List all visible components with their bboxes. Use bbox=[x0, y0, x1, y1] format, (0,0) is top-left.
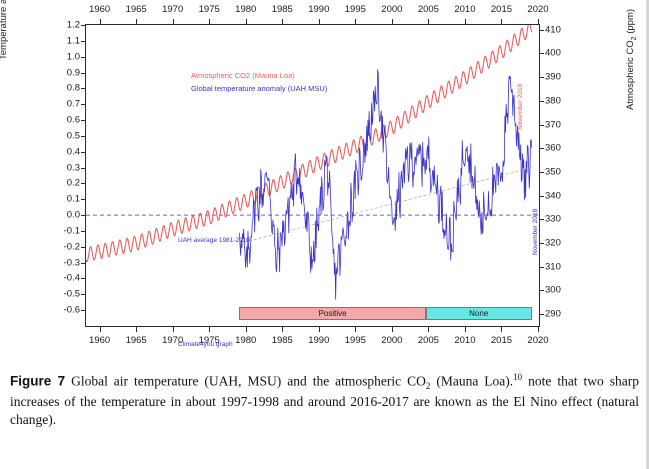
y-axis-right-label-sub: 2 bbox=[631, 36, 638, 40]
x-tick-top: 2010 bbox=[454, 4, 475, 15]
y-tickmark-right bbox=[539, 101, 544, 102]
y-tick-left: -0.4 bbox=[64, 273, 80, 284]
legend-temperature: Global temperature anomaly (UAH MSU) bbox=[191, 84, 327, 93]
y-tick-left: 0.9 bbox=[67, 67, 80, 78]
x-axis-bottom: 1960196519701975198019851990199520002005… bbox=[85, 331, 540, 347]
annotation-november-2018-blue: November 2018 bbox=[532, 209, 539, 255]
figure-caption-ref: 10 bbox=[513, 372, 522, 382]
x-tick-bottom: 2000 bbox=[381, 335, 402, 346]
y-tickmark-right bbox=[539, 196, 544, 197]
y-tick-left: 0.5 bbox=[67, 130, 80, 141]
x-tick-bottom: 1980 bbox=[235, 335, 256, 346]
y-tick-right: 350 bbox=[545, 166, 561, 177]
y-tickmark-left bbox=[81, 215, 86, 216]
legend-co2: Atmospheric CO2 (Mauna Loa) bbox=[191, 71, 295, 80]
y-tick-left: -0.6 bbox=[64, 305, 80, 316]
y-tickmark-left bbox=[81, 136, 86, 137]
y-tick-left: 0.2 bbox=[67, 178, 80, 189]
y-tickmark-right bbox=[539, 77, 544, 78]
y-tick-right: 370 bbox=[545, 119, 561, 130]
figure-caption-part2: (Mauna Loa). bbox=[430, 374, 513, 389]
reference-line-label: UAH average 1981-2010 bbox=[178, 237, 250, 244]
y-tick-right: 410 bbox=[545, 24, 561, 35]
y-tickmark-left bbox=[81, 120, 86, 121]
x-tickmark-bottom bbox=[100, 327, 101, 332]
x-tickmark-bottom bbox=[355, 327, 356, 332]
x-tick-bottom: 1995 bbox=[345, 335, 366, 346]
y-tickmark-right bbox=[539, 148, 544, 149]
x-tick-bottom: 1965 bbox=[126, 335, 147, 346]
x-tick-top: 1985 bbox=[272, 4, 293, 15]
y-tickmark-right bbox=[539, 125, 544, 126]
y-tick-right: 330 bbox=[545, 214, 561, 225]
x-tick-bottom: 2005 bbox=[418, 335, 439, 346]
y-tickmark-right bbox=[539, 290, 544, 291]
x-tick-top: 1990 bbox=[308, 4, 329, 15]
annotation-november-2018-red: November 2018 bbox=[517, 84, 524, 130]
y-tick-left: 1.2 bbox=[67, 20, 80, 31]
chart-area: 1960196519701975198019851990199520002005… bbox=[0, 0, 649, 362]
y-tickmark-left bbox=[81, 231, 86, 232]
y-tickmark-left bbox=[81, 263, 86, 264]
y-tick-right: 360 bbox=[545, 143, 561, 154]
x-tick-bottom: 2020 bbox=[527, 335, 548, 346]
watermark-label: Climate4you graph bbox=[178, 341, 233, 348]
x-tick-top: 2005 bbox=[418, 4, 439, 15]
y-tick-left: -0.3 bbox=[64, 257, 80, 268]
y-tickmark-left bbox=[81, 41, 86, 42]
x-tick-top: 2015 bbox=[491, 4, 512, 15]
x-tickmark-bottom bbox=[538, 327, 539, 332]
x-tick-bottom: 2015 bbox=[491, 335, 512, 346]
y-tick-left: 0.7 bbox=[67, 99, 80, 110]
y-axis-right-label-unit: (ppm) bbox=[625, 9, 636, 36]
y-axis-right-label-text: Atmospheric CO bbox=[625, 40, 636, 110]
y-tick-left: 0.3 bbox=[67, 162, 80, 173]
y-tickmark-left bbox=[81, 199, 86, 200]
x-tick-top: 1965 bbox=[126, 4, 147, 15]
y-tickmark-right bbox=[539, 314, 544, 315]
enso-bar-positive: Positive bbox=[239, 307, 425, 320]
y-tickmark-right bbox=[539, 30, 544, 31]
y-tick-left: -0.5 bbox=[64, 289, 80, 300]
y-tick-right: 290 bbox=[545, 309, 561, 320]
y-tickmark-left bbox=[81, 73, 86, 74]
y-tickmark-right bbox=[539, 267, 544, 268]
x-tickmark-bottom bbox=[392, 327, 393, 332]
x-axis-top: 1960196519701975198019851990199520002005… bbox=[85, 4, 540, 20]
y-tick-right: 310 bbox=[545, 261, 561, 272]
y-tickmark-left bbox=[81, 25, 86, 26]
y-tickmark-left bbox=[81, 168, 86, 169]
x-tickmark-bottom bbox=[282, 327, 283, 332]
y-tick-left: 0.8 bbox=[67, 83, 80, 94]
y-tickmark-left bbox=[81, 183, 86, 184]
x-tick-top: 1995 bbox=[345, 4, 366, 15]
y-tick-right: 320 bbox=[545, 238, 561, 249]
y-tickmark-left bbox=[81, 88, 86, 89]
x-tickmark-bottom bbox=[501, 327, 502, 332]
x-tick-bottom: 1990 bbox=[308, 335, 329, 346]
figure-caption-label: Figure 7 bbox=[10, 374, 65, 389]
x-tickmark-bottom bbox=[246, 327, 247, 332]
x-tick-bottom: 1985 bbox=[272, 335, 293, 346]
y-tick-right: 390 bbox=[545, 72, 561, 83]
y-tickmark-right bbox=[539, 243, 544, 244]
figure-container: 1960196519701975198019851990199520002005… bbox=[0, 0, 649, 469]
figure-caption: Figure 7 Global air temperature (UAH, MS… bbox=[10, 372, 639, 429]
y-tick-left: 1.0 bbox=[67, 51, 80, 62]
y-tickmark-left bbox=[81, 294, 86, 295]
x-tickmark-bottom bbox=[428, 327, 429, 332]
x-tick-top: 2000 bbox=[381, 4, 402, 15]
y-tickmark-right bbox=[539, 172, 544, 173]
y-axis-left-label: Temperature anomaly (deg. C) bbox=[0, 0, 9, 60]
y-tick-right: 340 bbox=[545, 190, 561, 201]
y-tick-right: 400 bbox=[545, 48, 561, 59]
y-axis-right-label: Atmospheric CO2 (ppm) bbox=[625, 0, 638, 110]
x-tick-top: 1980 bbox=[235, 4, 256, 15]
x-tickmark-bottom bbox=[173, 327, 174, 332]
x-tick-top: 2020 bbox=[527, 4, 548, 15]
x-tick-top: 1975 bbox=[199, 4, 220, 15]
y-tick-left: 0.6 bbox=[67, 115, 80, 126]
y-tickmark-left bbox=[81, 152, 86, 153]
y-tick-left: 0.1 bbox=[67, 194, 80, 205]
enso-bar-none: None bbox=[426, 307, 532, 320]
y-tick-left: 1.1 bbox=[67, 35, 80, 46]
x-tickmark-bottom bbox=[465, 327, 466, 332]
y-tick-right: 380 bbox=[545, 95, 561, 106]
y-tickmark-right bbox=[539, 53, 544, 54]
x-tickmark-bottom bbox=[136, 327, 137, 332]
y-tick-left: 0.4 bbox=[67, 146, 80, 157]
x-tick-top: 1960 bbox=[89, 4, 110, 15]
chart-svg bbox=[86, 25, 539, 326]
x-tickmark-bottom bbox=[209, 327, 210, 332]
x-tick-bottom: 2010 bbox=[454, 335, 475, 346]
plot-frame: Atmospheric CO2 (Mauna Loa) Global tempe… bbox=[85, 24, 540, 327]
x-tick-top: 1970 bbox=[162, 4, 183, 15]
y-tickmark-left bbox=[81, 278, 86, 279]
x-tickmark-bottom bbox=[319, 327, 320, 332]
x-tick-bottom: 1960 bbox=[89, 335, 110, 346]
y-tickmark-left bbox=[81, 104, 86, 105]
y-tick-left: -0.2 bbox=[64, 241, 80, 252]
y-tick-left: 0.0 bbox=[67, 210, 80, 221]
y-tickmark-left bbox=[81, 247, 86, 248]
y-tick-left: -0.1 bbox=[64, 225, 80, 236]
y-tickmark-left bbox=[81, 57, 86, 58]
y-tickmark-right bbox=[539, 219, 544, 220]
y-tick-right: 300 bbox=[545, 285, 561, 296]
figure-caption-part1: Global air temperature (UAH, MSU) and th… bbox=[65, 374, 426, 389]
y-tickmark-left bbox=[81, 310, 86, 311]
